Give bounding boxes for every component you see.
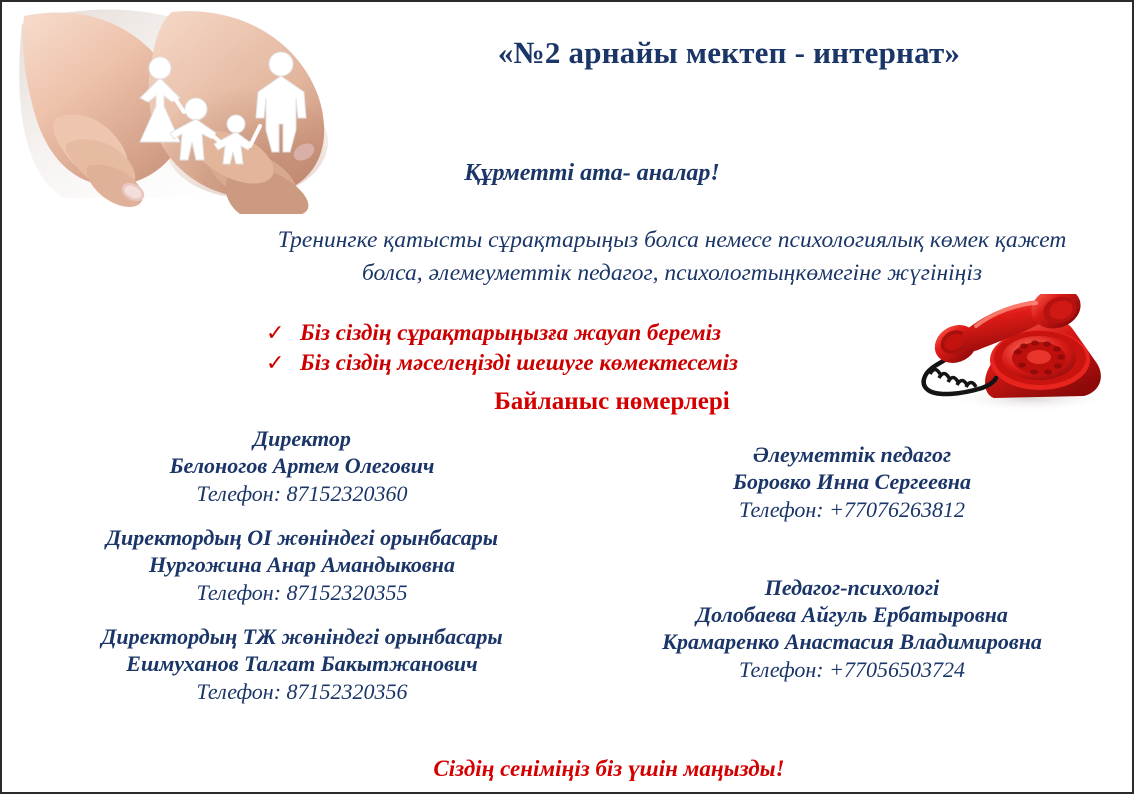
contact-phone[interactable]: Телефон: +77076263812 xyxy=(592,496,1112,524)
contact-role: Педагог-психологі xyxy=(592,575,1112,602)
contacts-column-right: Әлеуметтік педагог Боровко Инна Сергеевн… xyxy=(592,442,1112,683)
list-item-label: Біз сіздің мәселеңізді шешуге көмектесем… xyxy=(300,348,738,378)
contact-role: Директор xyxy=(22,426,582,453)
contacts-column-left: Директор Белоногов Артем Олегович Телефо… xyxy=(22,426,582,705)
slide-canvas: «№2 арнайы мектеп - интернат» Құрметті а… xyxy=(0,0,1134,794)
contact-card-psychologist: Педагог-психологі Долобаева Айгуль Ербат… xyxy=(592,575,1112,683)
checkmark-icon: ✓ xyxy=(266,349,282,378)
contact-card-deputy-oi: Директордың ОІ жөніндегі орынбасары Нург… xyxy=(22,525,582,606)
contact-name: Долобаева Айгуль Ербатыровна xyxy=(592,602,1112,629)
greeting-text: Құрметті ата- аналар! xyxy=(332,160,852,187)
contact-name: Нургожина Анар Амандыковна xyxy=(22,552,582,579)
list-item-label: Біз сіздің сұрақтарыңызға жауап береміз xyxy=(300,318,721,348)
contacts-heading: Байланыс нөмерлері xyxy=(332,388,892,416)
list-item: ✓ Біз сіздің сұрақтарыңызға жауап беремі… xyxy=(266,318,886,348)
contact-name: Белоногов Артем Олегович xyxy=(22,453,582,480)
contact-phone[interactable]: Телефон: +77056503724 xyxy=(592,656,1112,684)
checkmark-icon: ✓ xyxy=(266,319,282,348)
hands-holding-paper-family-photo xyxy=(4,2,356,214)
contact-phone[interactable]: Телефон: 87152320360 xyxy=(22,480,582,508)
contact-card-director: Директор Белоногов Артем Олегович Телефо… xyxy=(22,426,582,507)
contact-role: Директордың ОІ жөніндегі орынбасары xyxy=(22,525,582,552)
contact-name-secondary: Крамаренко Анастасия Владимировна xyxy=(592,629,1112,656)
contact-card-social-pedagogue: Әлеуметтік педагог Боровко Инна Сергеевн… xyxy=(592,442,1112,523)
contact-role: Әлеуметтік педагог xyxy=(592,442,1112,469)
red-rotary-telephone-photo xyxy=(890,294,1128,416)
contact-phone[interactable]: Телефон: 87152320356 xyxy=(22,678,582,706)
contact-role: Директордың ТЖ жөніндегі орынбасары xyxy=(22,624,582,651)
promise-bullet-list: ✓ Біз сіздің сұрақтарыңызға жауап беремі… xyxy=(266,318,886,378)
contact-name: Боровко Инна Сергеевна xyxy=(592,469,1112,496)
intro-paragraph: Тренингке қатысты сұрақтарыңыз болса нем… xyxy=(272,224,1072,290)
contact-name: Ешмуханов Талгат Бакытжанович xyxy=(22,651,582,678)
contact-phone[interactable]: Телефон: 87152320355 xyxy=(22,579,582,607)
contact-card-deputy-tj: Директордың ТЖ жөніндегі орынбасары Ешму… xyxy=(22,624,582,705)
page-title: «№2 арнайы мектеп - интернат» xyxy=(399,35,1059,72)
list-item: ✓ Біз сіздің мәселеңізді шешуге көмектес… xyxy=(266,348,886,378)
footer-note: Сіздің сеніміңіз біз үшін маңызды! xyxy=(209,756,1009,782)
